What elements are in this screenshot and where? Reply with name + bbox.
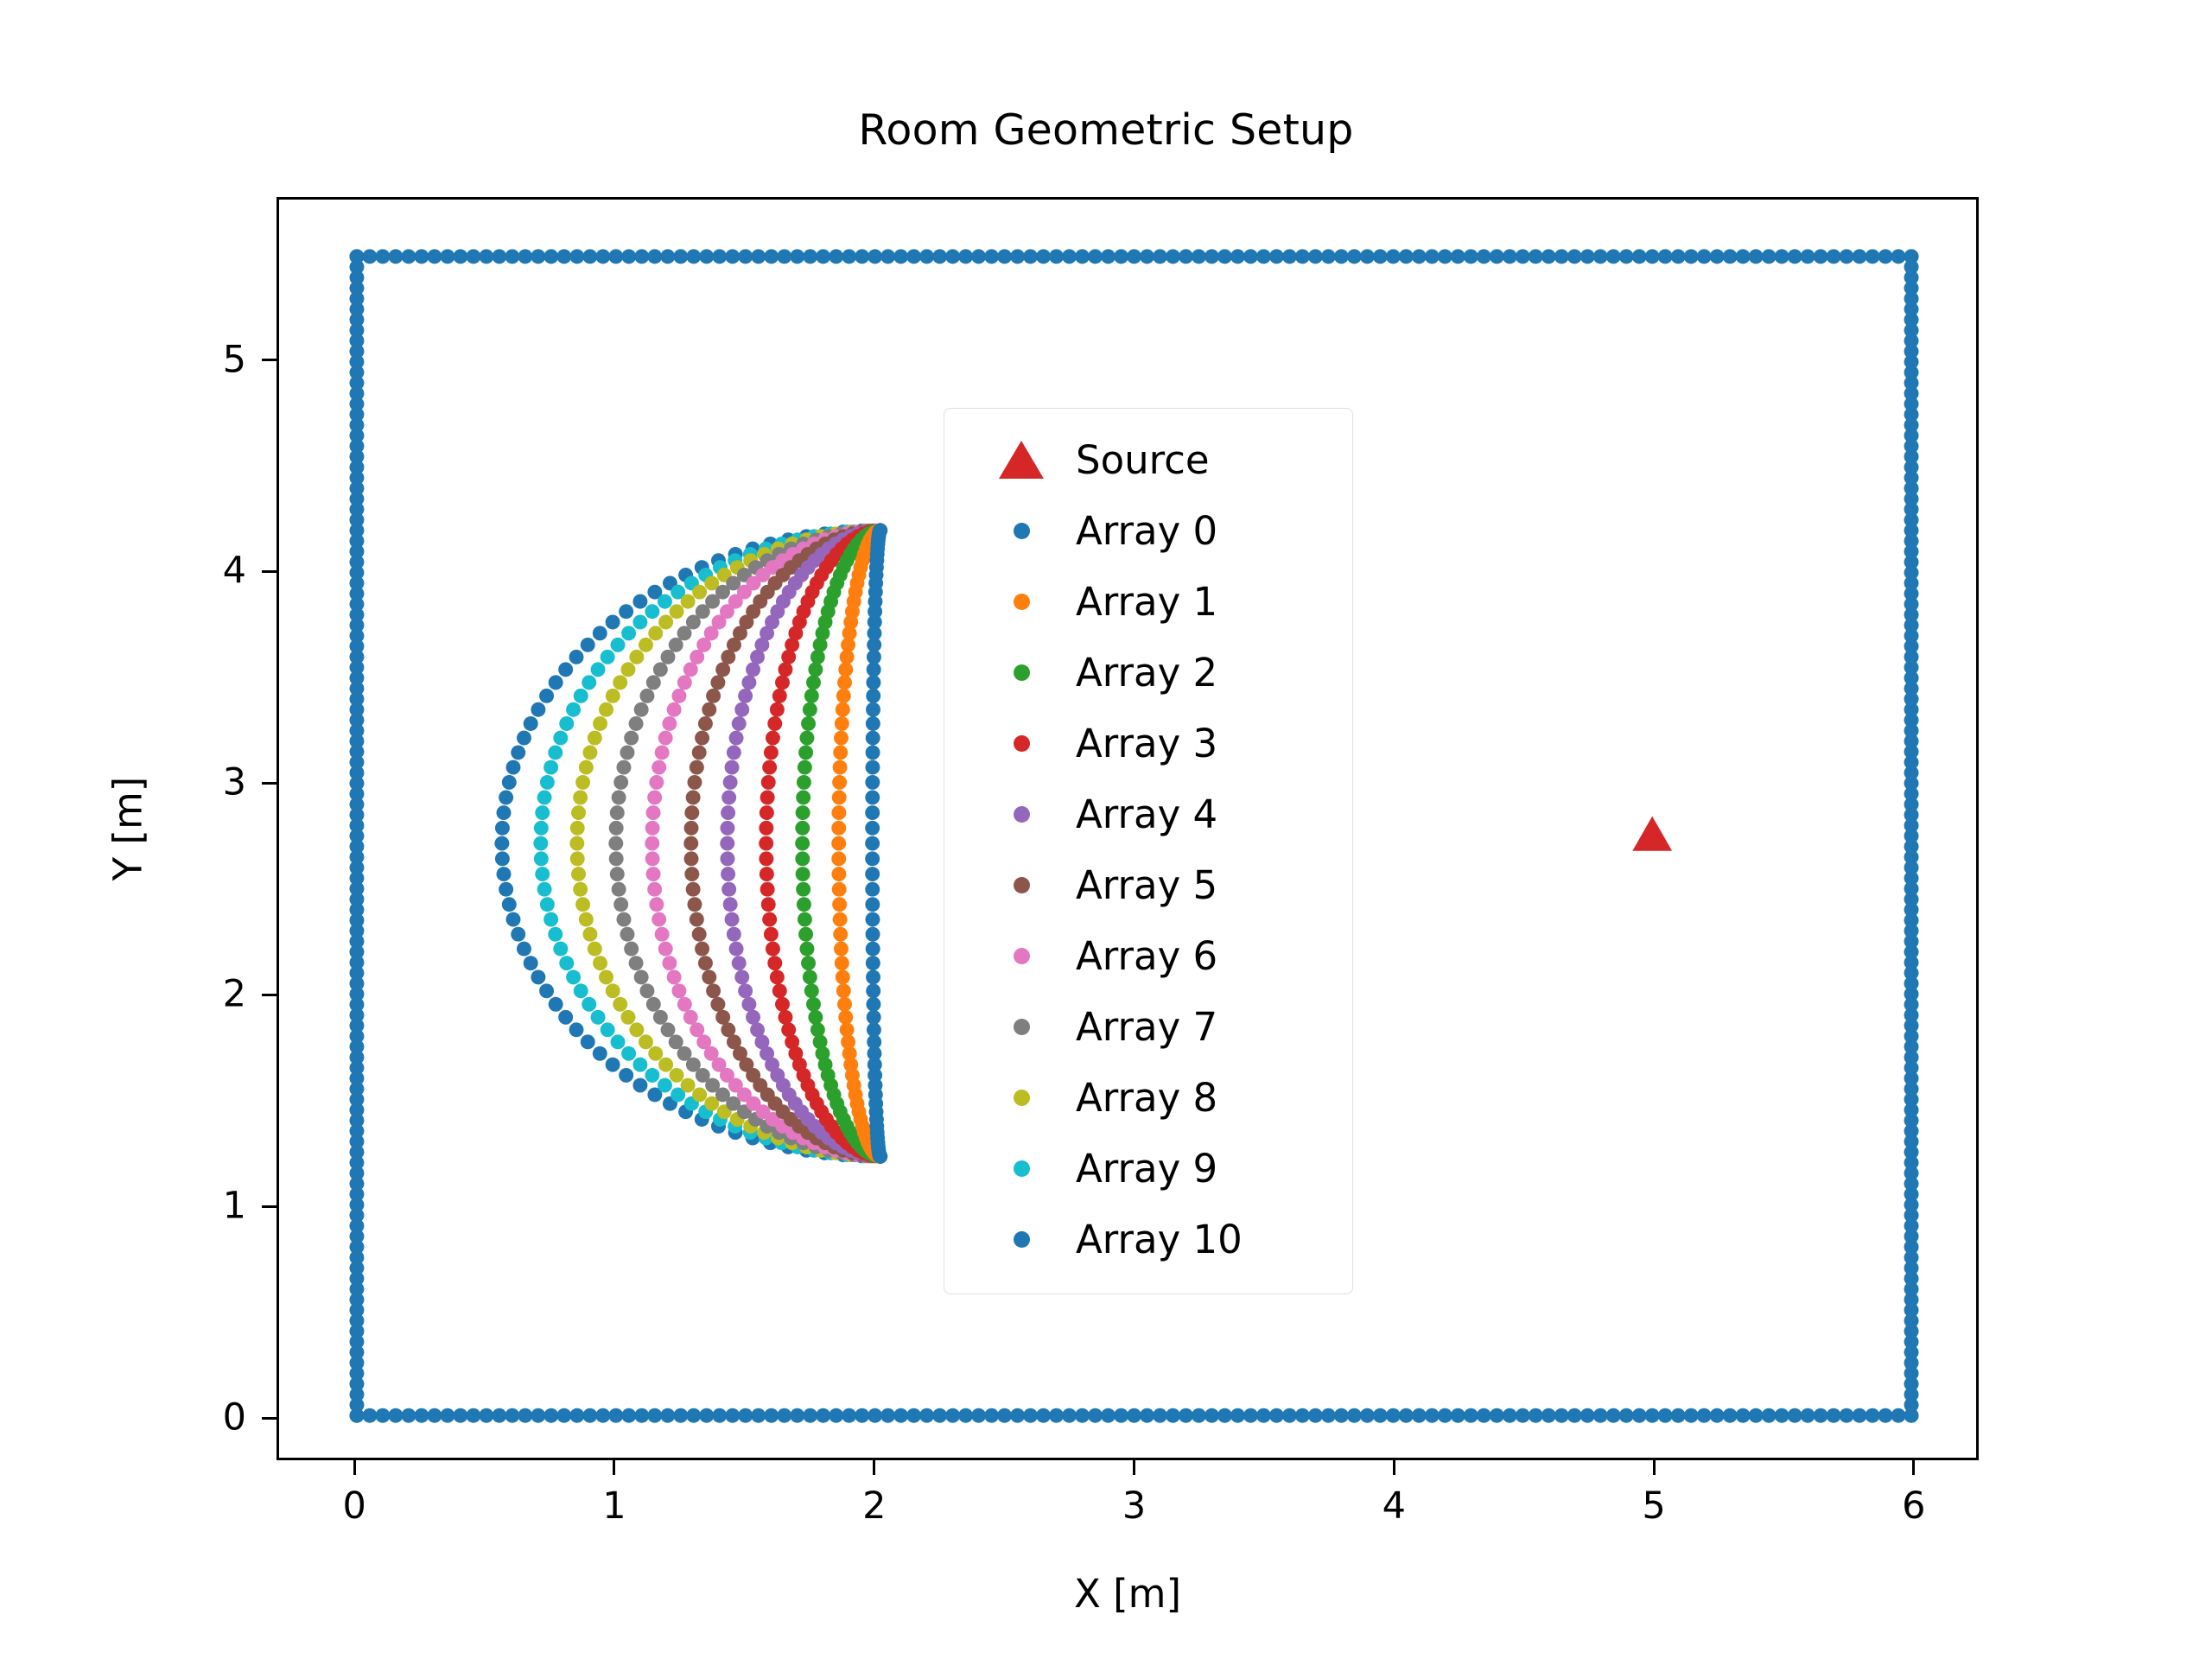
dot-marker-icon xyxy=(1014,1019,1030,1035)
page-title: Room Geometric Setup xyxy=(0,105,2212,155)
x-tick-mark xyxy=(353,1460,356,1475)
legend-item-array-7[interactable]: Array 7 xyxy=(967,991,1330,1062)
y-tick-mark xyxy=(262,1205,276,1208)
legend-item-label: Array 9 xyxy=(1076,1149,1217,1188)
dot-marker-icon xyxy=(1014,806,1030,823)
dot-marker-icon xyxy=(1014,735,1030,752)
array-series-0 xyxy=(865,523,887,1163)
x-tick-label: 5 xyxy=(1642,1488,1665,1525)
legend-item-label: Array 3 xyxy=(1076,724,1217,763)
legend-item-label: Array 4 xyxy=(1076,795,1217,834)
legend-item-array-5[interactable]: Array 5 xyxy=(967,849,1330,920)
y-tick-mark xyxy=(262,359,276,361)
dot-marker-icon xyxy=(1014,1160,1030,1177)
legend-item-label: Array 0 xyxy=(1076,512,1217,550)
triangle-marker-icon xyxy=(999,441,1044,479)
dot-marker-icon xyxy=(1014,523,1030,539)
x-tick-mark xyxy=(613,1460,615,1475)
dot-marker-icon xyxy=(1014,1231,1030,1248)
legend-item-label: Array 10 xyxy=(1076,1220,1243,1259)
figure-canvas: Room Geometric Setup 0123456012345 X [m]… xyxy=(0,0,2212,1659)
y-tick-mark xyxy=(262,570,276,573)
legend-item-label: Array 6 xyxy=(1076,937,1217,976)
legend-item-label: Source xyxy=(1076,441,1210,480)
x-tick-label: 0 xyxy=(343,1488,366,1525)
dot-marker-icon xyxy=(1014,877,1030,893)
x-axis-label: X [m] xyxy=(276,1571,1979,1617)
legend-item-array-6[interactable]: Array 6 xyxy=(967,920,1330,991)
x-tick-mark xyxy=(1912,1460,1915,1475)
y-axis-label: Y [m] xyxy=(105,777,151,881)
legend-item-label: Array 5 xyxy=(1076,866,1217,905)
dot-marker-icon xyxy=(1014,664,1030,681)
y-tick-label: 5 xyxy=(181,341,246,378)
x-tick-label: 1 xyxy=(602,1488,626,1525)
dot-marker-icon xyxy=(1014,1090,1030,1106)
y-tick-label: 0 xyxy=(181,1400,246,1437)
y-tick-label: 4 xyxy=(181,553,246,590)
legend-item-array-4[interactable]: Array 4 xyxy=(967,779,1330,849)
y-tick-mark xyxy=(262,1417,276,1420)
x-tick-label: 3 xyxy=(1122,1488,1146,1525)
y-tick-mark xyxy=(262,994,276,996)
x-tick-mark xyxy=(1133,1460,1135,1475)
legend-item-array-1[interactable]: Array 1 xyxy=(967,566,1330,637)
legend-item-array-8[interactable]: Array 8 xyxy=(967,1062,1330,1133)
legend-item-label: Array 8 xyxy=(1076,1078,1217,1117)
y-tick-label: 1 xyxy=(181,1188,246,1225)
dot-marker-icon xyxy=(1014,594,1030,610)
x-tick-mark xyxy=(1653,1460,1656,1475)
legend-item-label: Array 2 xyxy=(1076,653,1217,692)
legend-item-array-10[interactable]: Array 10 xyxy=(967,1204,1330,1274)
legend-item-label: Array 7 xyxy=(1076,1007,1217,1046)
legend[interactable]: SourceArray 0Array 1Array 2Array 3Array … xyxy=(944,408,1353,1294)
x-tick-label: 2 xyxy=(862,1488,886,1525)
legend-item-label: Array 1 xyxy=(1076,582,1217,621)
source-marker xyxy=(1632,817,1672,851)
dot-marker-icon xyxy=(1014,948,1030,964)
x-tick-mark xyxy=(1393,1460,1395,1475)
x-tick-label: 6 xyxy=(1902,1488,1925,1525)
legend-item-array-9[interactable]: Array 9 xyxy=(967,1133,1330,1204)
legend-item-source[interactable]: Source xyxy=(967,424,1330,495)
y-tick-label: 3 xyxy=(181,765,246,802)
y-tick-label: 2 xyxy=(181,976,246,1014)
legend-item-array-3[interactable]: Array 3 xyxy=(967,708,1330,779)
legend-item-array-2[interactable]: Array 2 xyxy=(967,637,1330,708)
legend-item-array-0[interactable]: Array 0 xyxy=(967,495,1330,566)
x-tick-mark xyxy=(873,1460,875,1475)
x-tick-label: 4 xyxy=(1382,1488,1406,1525)
y-tick-mark xyxy=(262,782,276,785)
